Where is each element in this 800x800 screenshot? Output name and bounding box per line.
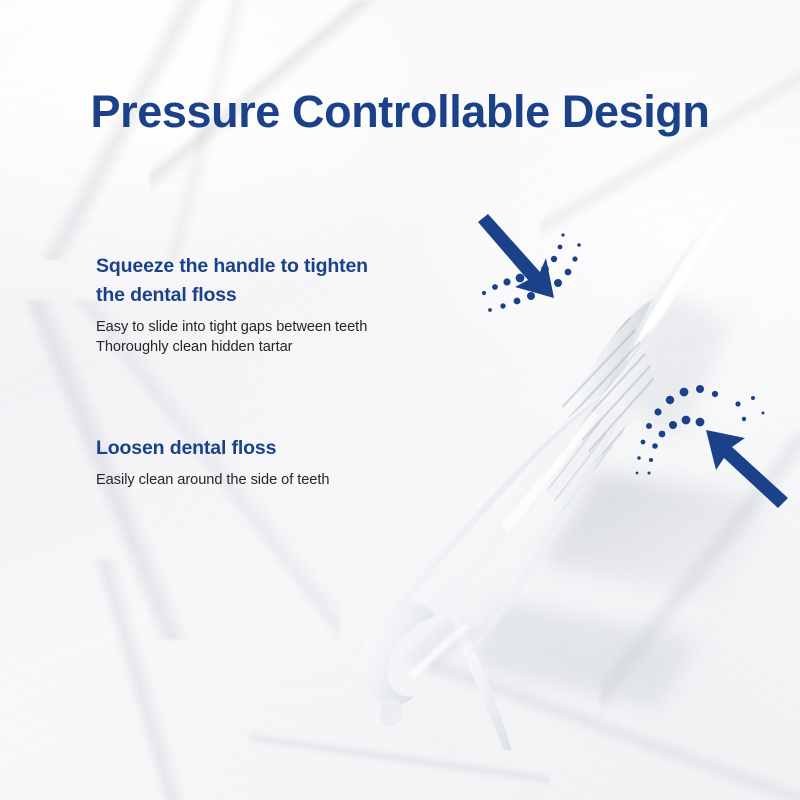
feature-heading: Loosen dental floss	[96, 434, 426, 463]
feature-heading-line2: the dental floss	[96, 281, 426, 310]
product-prong-left-tip	[380, 698, 403, 726]
arrow-down-right-icon	[478, 214, 554, 298]
feature-subtext: Easy to slide into tight gaps between te…	[96, 317, 426, 357]
feature-block-squeeze: Squeeze the handle to tighten the dental…	[96, 252, 426, 357]
dot-arc-inner	[648, 416, 705, 475]
page-title: Pressure Controllable Design	[0, 86, 800, 138]
feature-subtext-line2: Thoroughly clean hidden tartar	[96, 337, 426, 357]
product-feature-image: Pressure Controllable Design Squeeze the…	[0, 0, 800, 800]
arrow-up-left-icon	[706, 430, 788, 508]
feature-heading-line1: Squeeze the handle to tighten	[96, 255, 368, 277]
dot-accents	[735, 396, 764, 421]
dot-arc-outer	[636, 385, 719, 474]
feature-heading: Squeeze the handle to tighten the dental…	[96, 252, 426, 310]
feature-subtext-line1: Easily clean around the side of teeth	[96, 472, 329, 488]
feature-subtext: Easily clean around the side of teeth	[96, 470, 426, 490]
loosen-arrow-graphic	[620, 372, 790, 517]
squeeze-arrow-graphic	[466, 206, 596, 326]
feature-subtext-line1: Easy to slide into tight gaps between te…	[96, 319, 367, 335]
feature-heading-line1: Loosen dental floss	[96, 437, 276, 459]
feature-block-loosen: Loosen dental floss Easily clean around …	[96, 434, 426, 490]
